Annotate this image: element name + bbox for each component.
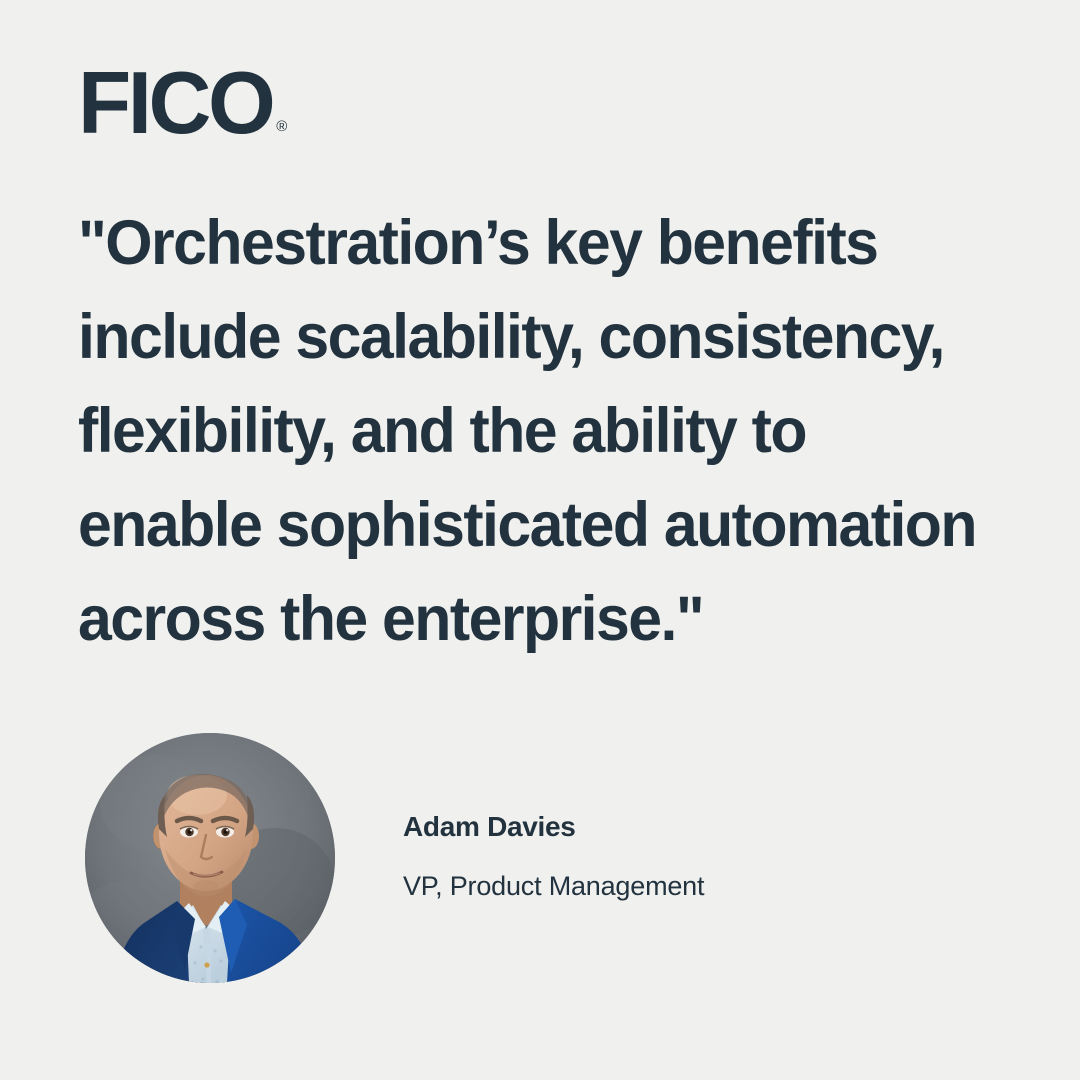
quote-text: "Orchestration’s key benefits include sc… (78, 196, 1038, 666)
quote-card: FICO ® "Orchestration’s key benefits inc… (0, 0, 1080, 1080)
quote-line: enable sophisticated automation (78, 478, 1004, 572)
quote-line: "Orchestration’s key benefits (78, 196, 1004, 290)
fico-logo-wordmark: FICO (78, 66, 272, 140)
avatar (85, 733, 335, 983)
quote-line: include scalability, consistency, (78, 290, 1004, 384)
registered-trademark-icon: ® (276, 119, 287, 140)
person-details: Adam Davies VP, Product Management (403, 810, 704, 906)
fico-logo: FICO ® (78, 66, 287, 140)
quote-line: flexibility, and the ability to (78, 384, 1004, 478)
attribution: Adam Davies VP, Product Management (85, 733, 704, 983)
avatar-photo-icon (85, 733, 335, 983)
person-role: VP, Product Management (403, 870, 704, 902)
person-name: Adam Davies (403, 810, 704, 844)
quote-line: across the enterprise." (78, 572, 1004, 666)
